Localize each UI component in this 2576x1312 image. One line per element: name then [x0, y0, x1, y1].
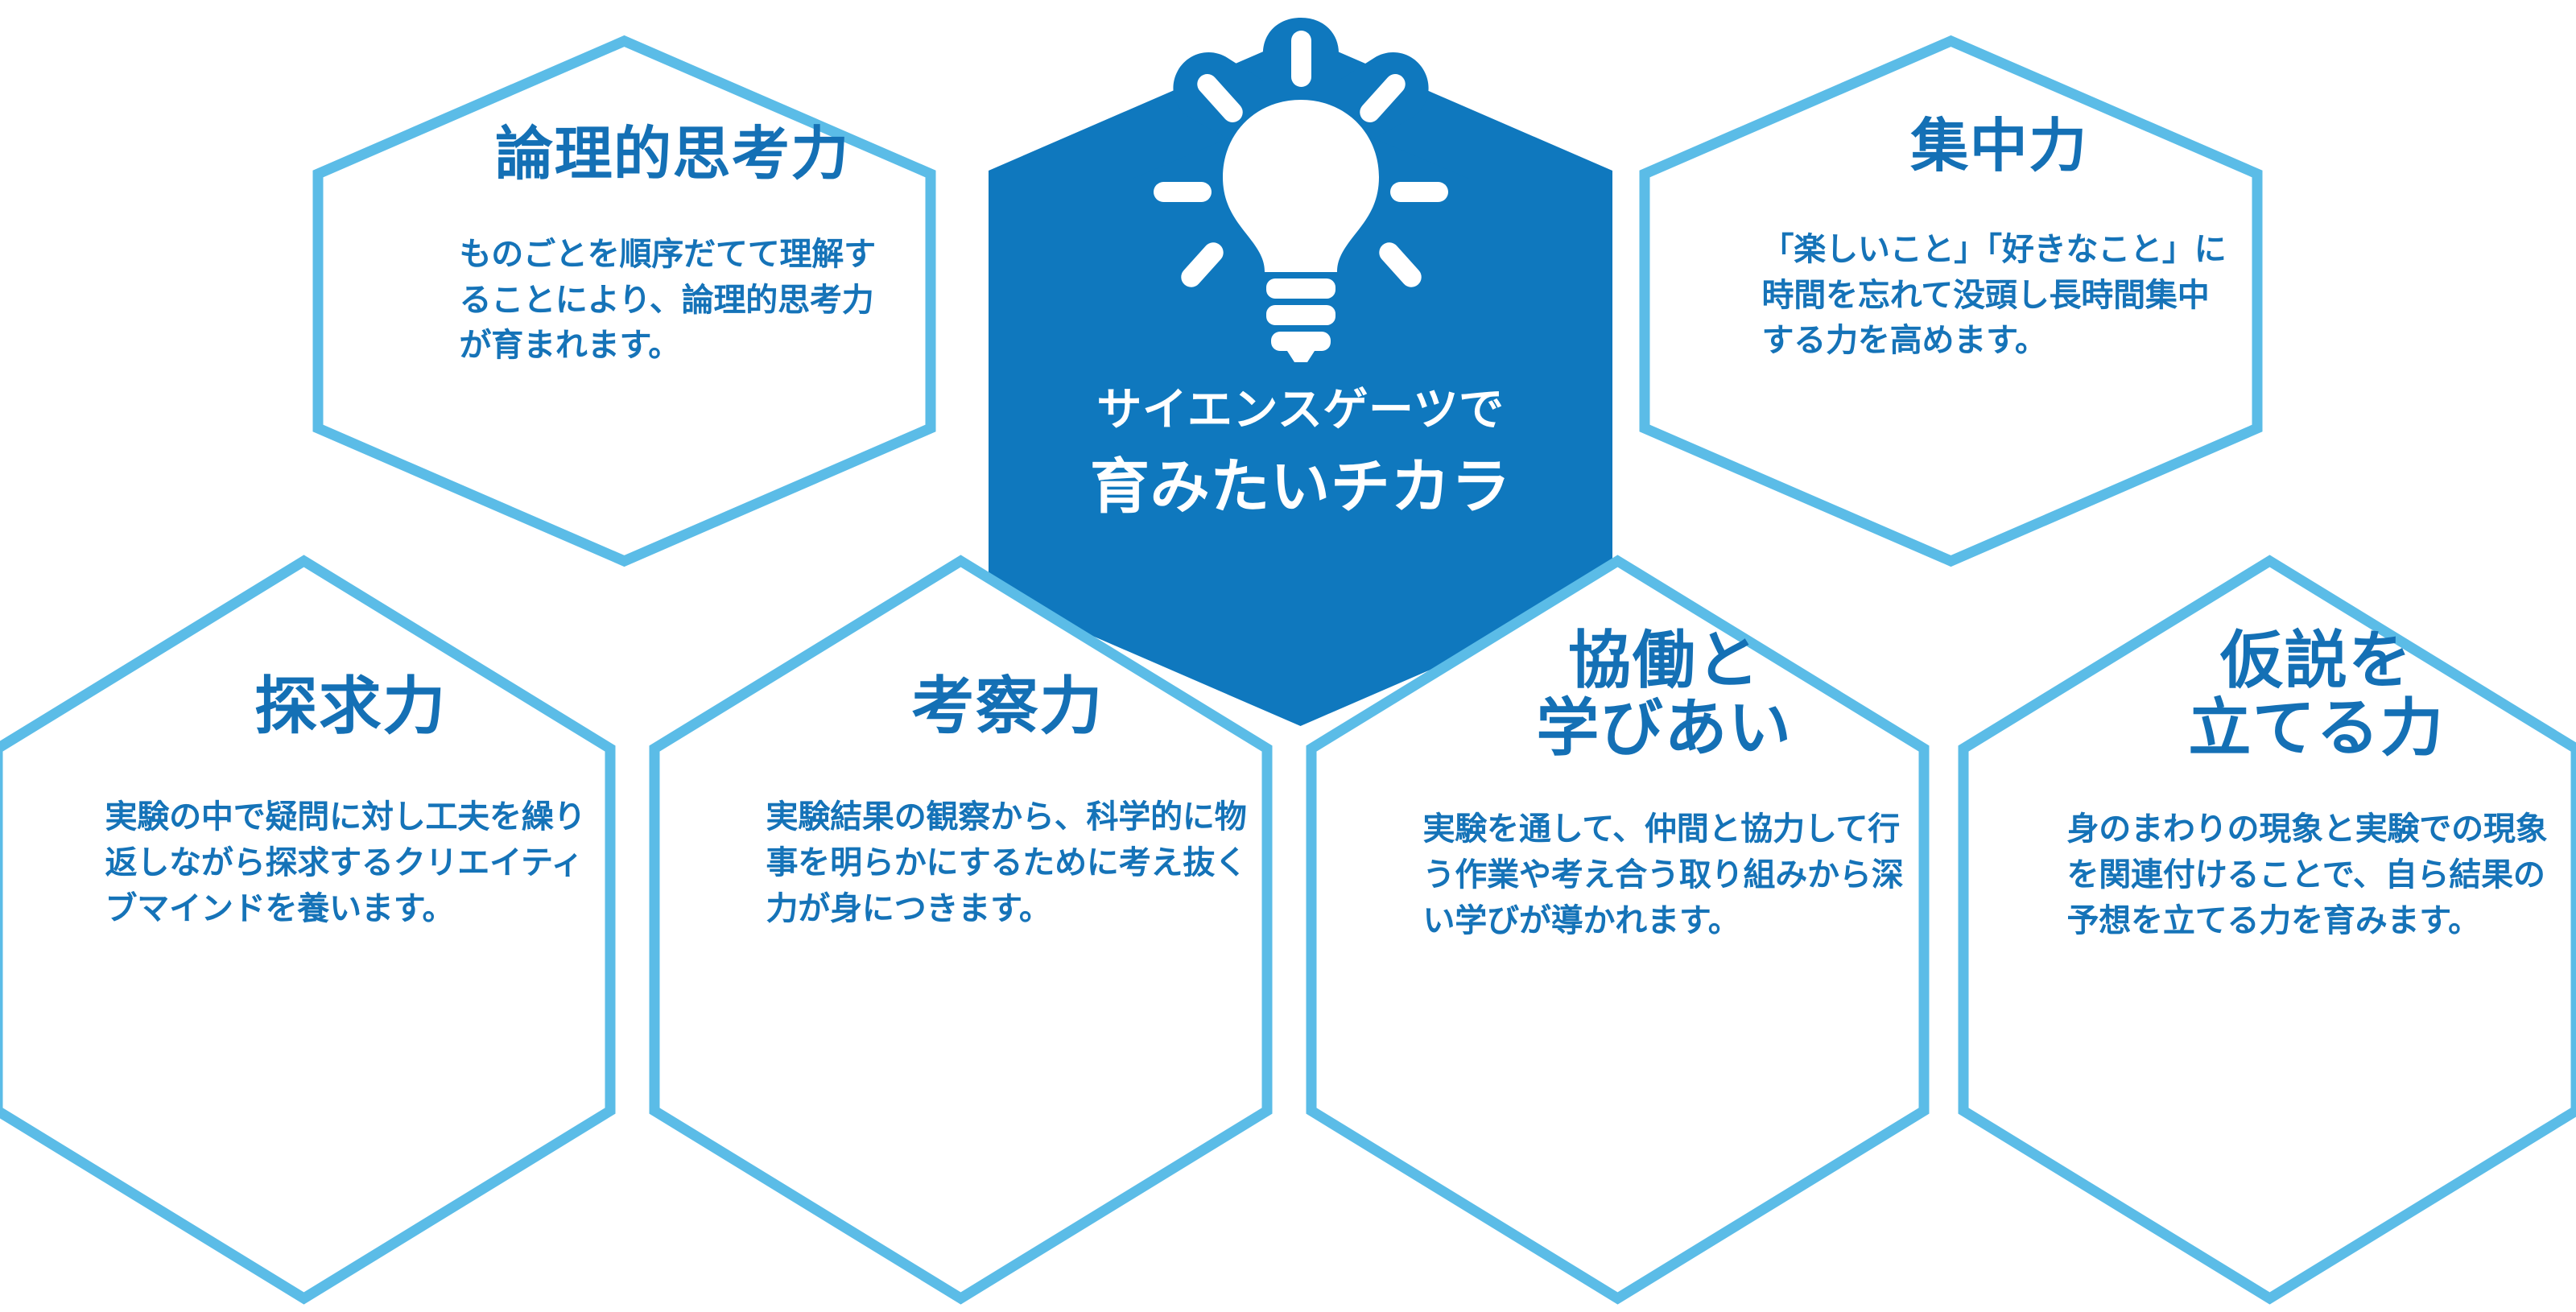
hex-card-hypothesis[interactable]: 仮説を 立てる力 身のまわりの現象と実験での現象を関連付けることで、自ら結果の予… [1958, 555, 2576, 1304]
card-body: 実験の中で疑問に対し工夫を繰り返しながら探求するクリエイティブマインドを養います… [105, 794, 597, 931]
hex-card-consideration[interactable]: 考察力 実験結果の観察から、科学的に物事を明らかにするために考え抜く力が身につき… [649, 555, 1273, 1304]
infographic-canvas: 論理的思考力 ものごとを順序だてて理解することにより、論理的思考力が育まれます。 [0, 0, 2576, 1312]
hex-card-concentration[interactable]: 集中力 「楽しいこと」「好きなこと」に時間を忘れて没頭し長時間集中する力を高めま… [1639, 35, 2263, 567]
card-body: 「楽しいこと」「好きなこと」に時間を忘れて没頭し長時間集中する力を高めます。 [1762, 227, 2237, 364]
card-title: 論理的思考力 [495, 124, 850, 187]
card-title: 集中力 [1910, 116, 2087, 179]
card-title: 協働と 学びあい [1536, 626, 1792, 761]
hex-card-logical-thinking[interactable]: 論理的思考力 ものごとを順序だてて理解することにより、論理的思考力が育まれます。 [312, 35, 936, 567]
card-title: 探求力 [254, 672, 447, 740]
card-body: 実験結果の観察から、科学的に物事を明らかにするために考え抜く力が身につきます。 [766, 794, 1249, 931]
card-body: 身のまわりの現象と実験での現象を関連付けることで、自ら結果の予想を立てる力を育み… [2067, 807, 2566, 943]
center-title-line1: サイエンスゲーツで [1096, 382, 1504, 438]
card-title: 仮説を 立てる力 [2188, 626, 2444, 761]
card-title: 考察力 [911, 672, 1104, 740]
center-title-line2: 育みたいチカラ [1090, 451, 1511, 523]
hex-card-inquiry[interactable]: 探求力 実験の中で疑問に対し工夫を繰り返しながら探求するクリエイティブマインドを… [0, 555, 616, 1304]
hex-card-collaboration[interactable]: 協働と 学びあい 実験を通して、仲間と協力して行う作業や考え合う取り組みから深い… [1306, 555, 1930, 1304]
card-body: ものごとを順序だてて理解することにより、論理的思考力が育まれます。 [460, 232, 886, 369]
card-body: 実験を通して、仲間と協力して行う作業や考え合う取り組みから深い学びが導かれます。 [1423, 807, 1906, 943]
